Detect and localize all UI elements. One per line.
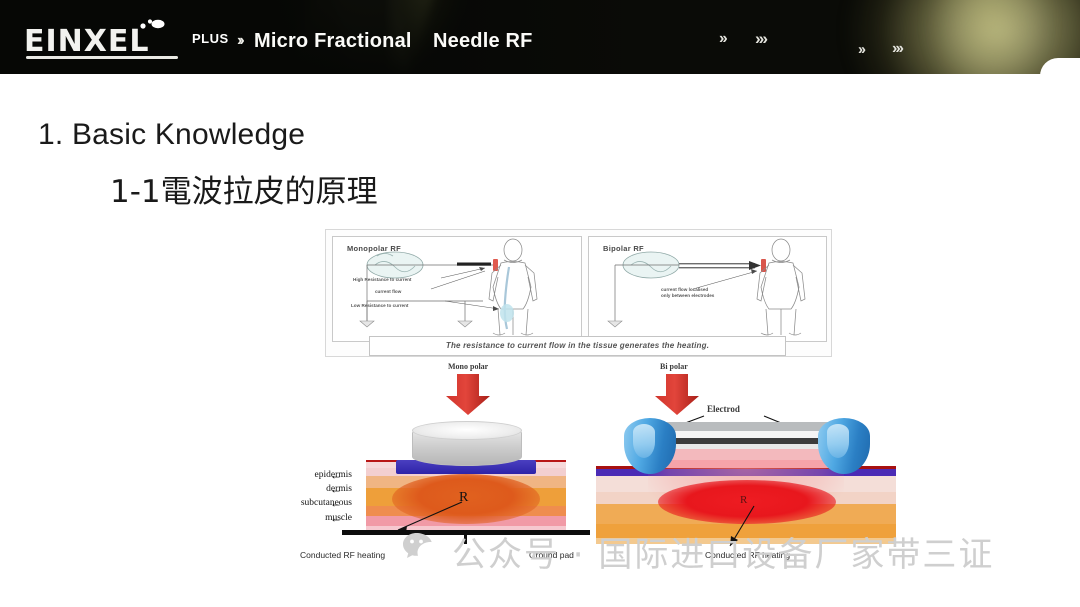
mono-polar-label: Mono polar [448, 362, 488, 371]
logo-underline [26, 56, 178, 59]
bipolar-tissue-cross-section: R [596, 408, 896, 538]
logo-plus-label: PLUS [192, 31, 229, 46]
bipolar-label-current-flow-1: current flow localised [661, 287, 708, 293]
header-bottom-edge [0, 74, 1080, 78]
bi-electrode-right-highlight [827, 424, 849, 458]
bi-resistance-pointer [714, 504, 794, 552]
bi-polar-label: Bi polar [660, 362, 688, 371]
monopolar-rf-panel: Monopolar RF [332, 236, 582, 342]
header-lead-chevron-icon: ›› [237, 32, 242, 50]
bipolar-panel-title: Bipolar RF [603, 244, 644, 253]
caption-conducted-rf-heating-right: Conducted RF heating [705, 550, 790, 560]
header-chevron-icon-a: ›› [719, 30, 726, 48]
rf-diagram-caption: The resistance to current flow in the ti… [369, 336, 786, 356]
mono-ground-pad-stem [464, 535, 467, 544]
mono-electrode-top [412, 421, 522, 440]
rf-principle-diagram: Monopolar RF [325, 229, 832, 357]
rf-diagram-caption-text: The resistance to current flow in the ti… [370, 337, 785, 355]
skin-arrow-icon-subcutaneous: ← [330, 496, 360, 510]
logo-wordmark: EINXEL [24, 27, 150, 57]
skin-arrow-icon-epidermis: ← [330, 468, 360, 482]
rf-tissue-diagram: Mono polar Bi polar Electrod [226, 360, 966, 585]
header-title-primary: Micro Fractional [254, 30, 412, 53]
skin-layer-arrows: ← ← ← ← [330, 468, 360, 525]
logo-spark-icon [134, 17, 168, 33]
header-title-secondary: Needle RF [433, 30, 533, 53]
bipolar-label-current-flow-2: only between electrodes [661, 293, 714, 299]
presentation-header: EINXEL PLUS ›› Micro Fractional Needle R… [0, 0, 1080, 78]
monopolar-panel-title: Monopolar RF [347, 244, 401, 253]
caption-ground-pad: Ground pad [529, 550, 574, 560]
monopolar-label-high-resistance: High Resistance to current [353, 277, 411, 283]
slide-root: EINXEL PLUS ›› Micro Fractional Needle R… [0, 0, 1080, 607]
skin-arrow-icon-dermis: ← [330, 482, 360, 496]
einxel-logo: EINXEL PLUS [24, 19, 150, 61]
bi-handpiece-band [658, 422, 836, 468]
bipolar-rf-panel: Bipolar RF [588, 236, 827, 342]
caption-conducted-rf-heating-left: Conducted RF heating [300, 550, 385, 560]
monopolar-tissue-cross-section: R [366, 408, 566, 528]
header-chevron-icon-c: ›› [858, 41, 864, 58]
bi-electrode-left-highlight [633, 424, 655, 458]
skin-arrow-icon-muscle: ← [330, 511, 360, 525]
page-title: 1. Basic Knowledge [38, 118, 305, 152]
page-subtitle: 1-1電波拉皮的原理 [110, 166, 378, 211]
header-chevron-icon-b: ››› [755, 29, 766, 49]
monopolar-label-low-resistance: Low Resistance to current [351, 303, 408, 309]
monopolar-label-current-flow: current flow [375, 289, 401, 295]
header-chevron-icon-d: ››› [892, 40, 902, 58]
